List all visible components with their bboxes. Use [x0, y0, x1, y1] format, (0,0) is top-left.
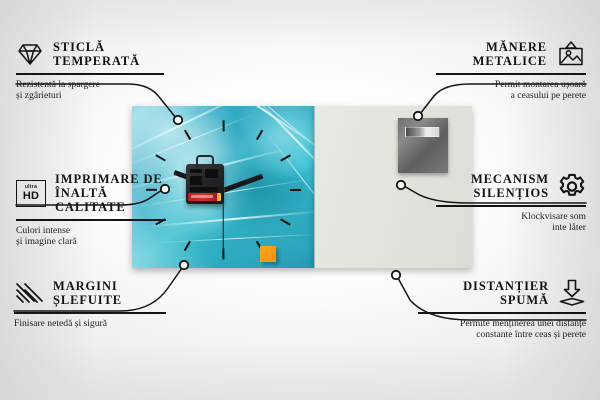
callout-margini-slefuite[interactable]: MARGINI ȘLEFUITE Finisare netedă și sigu… [14, 279, 166, 329]
movement-detail [190, 187, 218, 192]
clock-movement [186, 164, 224, 204]
movement-hanging-loop [196, 155, 214, 168]
leader-endpoint-distantier [392, 271, 400, 279]
callout-rule [16, 219, 166, 221]
diamond-icon [16, 42, 44, 66]
movement-detail [205, 169, 218, 178]
metal-hanger-plate [398, 118, 448, 173]
framed-picture-hanger-icon [556, 41, 586, 67]
callout-subtitle: Klockvisare som inte låter [436, 211, 586, 234]
callout-manere-metalice[interactable]: MĂNERE METALICE Permit montarea ușoară a… [436, 40, 586, 102]
callout-rule [14, 312, 166, 314]
diagonal-edge-lines-icon [14, 281, 44, 305]
callout-rule [436, 73, 586, 75]
callout-rule [16, 73, 164, 75]
callout-subtitle: Rezistentă la spargere și zgârieturi [16, 79, 164, 102]
callout-subtitle: Finisare netedă și sigură [14, 318, 166, 330]
foam-spacer [260, 246, 276, 262]
callout-rule [436, 205, 586, 207]
ultra-hd-badge-icon: ultra HD [16, 180, 46, 207]
callout-subtitle: Culori intense și imagine clară [16, 225, 166, 248]
callout-mecanism-silentios[interactable]: MECANISM SILENȚIOS Klockvisare som inte … [436, 172, 586, 234]
infographic-canvas: STICLĂ TEMPERATĂ Rezistentă la spargere … [0, 0, 600, 400]
hanger-slot [405, 127, 440, 137]
ultra-hd-badge-top: ultra [25, 185, 37, 190]
clock-tick [290, 189, 301, 191]
callout-subtitle: Permit montarea ușoară a ceasului pe per… [436, 79, 586, 102]
panel-divider [314, 106, 315, 268]
callout-title: MARGINI ȘLEFUITE [53, 279, 122, 307]
callout-title: MĂNERE METALICE [473, 40, 547, 68]
callout-rule [418, 312, 586, 314]
callout-title: STICLĂ TEMPERATĂ [53, 40, 140, 68]
battery [188, 193, 221, 201]
callout-title: DISTANȚIER SPUMĂ [463, 279, 549, 307]
callout-distantier-spuma[interactable]: DISTANȚIER SPUMĂ Permite menținerea unei… [418, 279, 586, 341]
callout-sticla-temperata[interactable]: STICLĂ TEMPERATĂ Rezistentă la spargere … [16, 40, 164, 102]
movement-detail [190, 176, 202, 185]
callout-imprimare-inalta-calitate[interactable]: ultra HD IMPRIMARE DE ÎNALTĂ CALITATE Cu… [16, 172, 166, 248]
callout-title: MECANISM SILENȚIOS [471, 172, 549, 200]
ultra-hd-badge-main: HD [23, 191, 39, 202]
movement-detail [190, 169, 202, 173]
product-image [132, 106, 472, 268]
battery-label [191, 195, 213, 198]
arrow-down-onto-layer-icon [558, 279, 586, 307]
callout-subtitle: Permite menținerea unei distanțe constan… [418, 318, 586, 341]
gear-icon [558, 173, 586, 200]
callout-title: IMPRIMARE DE ÎNALTĂ CALITATE [55, 172, 166, 214]
feather-streak [152, 234, 314, 244]
clock-tick [222, 120, 224, 131]
